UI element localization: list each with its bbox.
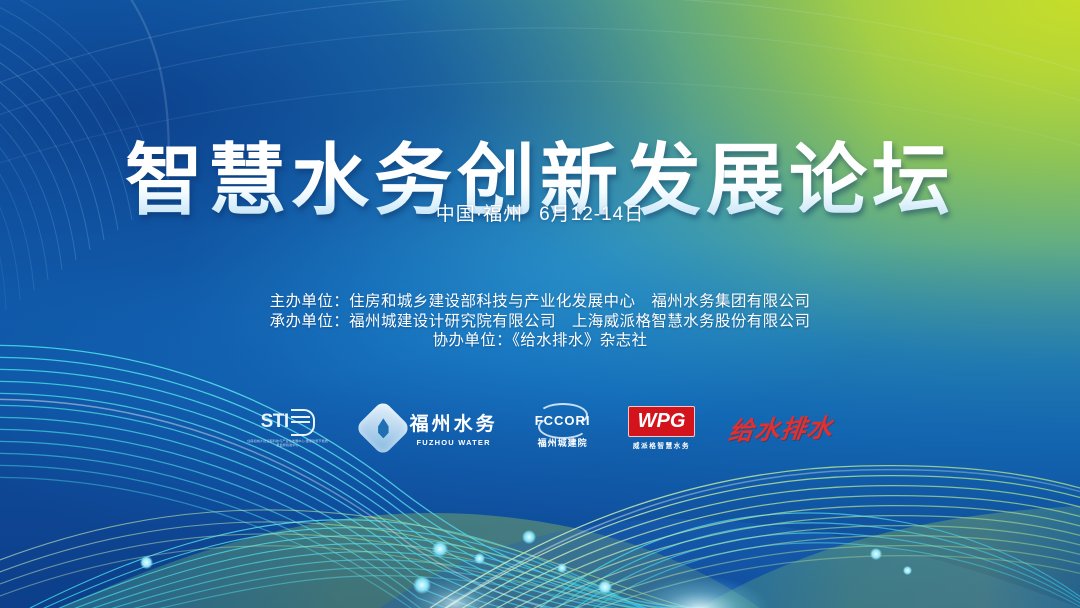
logo-fuzhou-water: 福州水务 FUZHOU WATER (363, 399, 498, 457)
wpg-badge: WPG (628, 406, 696, 437)
organizer-label-organizer: 承办单位： (270, 313, 350, 330)
poster-content: 智慧水务创新发展论坛 中国·福州6月12-14日 主办单位：住房和城乡建设部科技… (0, 0, 1080, 608)
logo-jspsw: 给水排水 (729, 399, 833, 457)
stid-mark-icon: STI (261, 409, 315, 436)
wpg-mark-text: WPG (638, 410, 686, 432)
organizer-line-host: 主办单位：住房和城乡建设部科技与产业化发展中心福州水务集团有限公司 (0, 292, 1080, 312)
fuzhou-water-text: 福州水务 FUZHOU WATER (410, 409, 498, 447)
water-droplet-icon (354, 400, 411, 457)
fccori-arc-icon: FCCORI (532, 408, 594, 434)
logo-fccori: FCCORI 福州城建院 (532, 399, 594, 457)
event-dates: 6月12-14日 (539, 204, 644, 225)
organizer-entity-host-2: 福州水务集团有限公司 (651, 293, 810, 310)
organizer-line-organizer: 承办单位：福州城建设计研究院有限公司上海威派格智慧水务股份有限公司 (0, 312, 1080, 332)
logo-stid: STI 住房和城乡建设部科技与产业化发展中心 国家建筑节能质量监督检验中心 (247, 399, 329, 457)
event-subtitle: 中国·福州6月12-14日 (0, 203, 1080, 227)
droplet-shape-icon (375, 418, 390, 438)
fuzhou-water-en: FUZHOU WATER (416, 438, 490, 447)
event-location: 中国·福州 (436, 204, 523, 225)
fccori-mark-text: FCCORI (535, 413, 591, 428)
organizer-entity-organizer-2: 上海威派格智慧水务股份有限公司 (572, 313, 811, 330)
organizer-entity-organizer-1: 福州城建设计研究院有限公司 (349, 313, 556, 330)
sponsor-logo-strip: STI 住房和城乡建设部科技与产业化发展中心 国家建筑节能质量监督检验中心 福州… (0, 398, 1080, 458)
fuzhou-water-cn: 福州水务 (410, 409, 498, 436)
organizer-block: 主办单位：住房和城乡建设部科技与产业化发展中心福州水务集团有限公司 承办单位：福… (0, 292, 1080, 351)
stid-mark-text: STI (261, 411, 289, 433)
wpg-cn: 威派格智慧水务 (633, 440, 690, 450)
organizer-label-host: 主办单位： (270, 293, 350, 310)
stid-caption: 住房和城乡建设部科技与产业化发展中心 国家建筑节能质量监督检验中心 (247, 439, 329, 447)
stid-d-icon (291, 409, 315, 436)
organizer-line-coorganizer: 协办单位：《给水排水》杂志社 (0, 331, 1080, 351)
organizer-entity-coorganizer-1: 《给水排水》杂志社 (512, 332, 647, 349)
jspsw-cn: 给水排水 (727, 408, 836, 448)
organizer-label-coorganizer: 协办单位： (433, 332, 513, 349)
logo-wpg: WPG 威派格智慧水务 (628, 399, 696, 457)
organizer-entity-host-1: 住房和城乡建设部科技与产业化发展中心 (349, 293, 635, 310)
conference-poster: 智慧水务创新发展论坛 中国·福州6月12-14日 主办单位：住房和城乡建设部科技… (0, 0, 1080, 608)
